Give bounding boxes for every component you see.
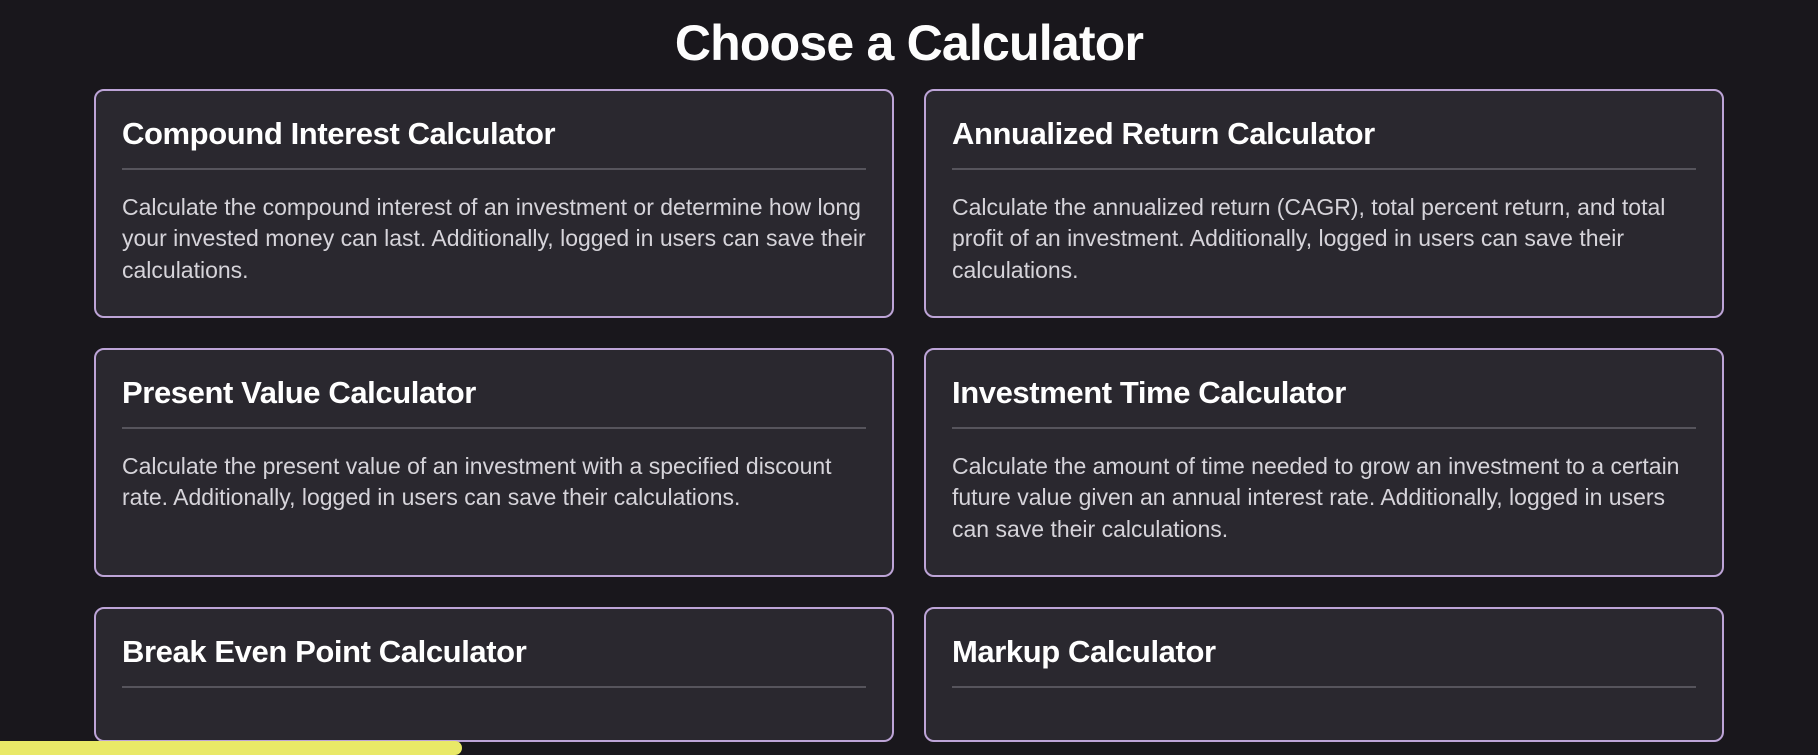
calculator-card-markup[interactable]: Markup Calculator — [924, 607, 1724, 742]
calculator-card-title: Investment Time Calculator — [952, 376, 1696, 427]
calculator-card-title: Break Even Point Calculator — [122, 635, 866, 686]
calculator-card-divider — [122, 168, 866, 170]
calculator-card-title: Present Value Calculator — [122, 376, 866, 427]
calculator-card-annualized-return[interactable]: Annualized Return Calculator Calculate t… — [924, 89, 1724, 318]
calculator-card-title: Annualized Return Calculator — [952, 117, 1696, 168]
calculator-card-description: Calculate the amount of time needed to g… — [952, 451, 1696, 546]
calculator-card-divider — [122, 686, 866, 688]
calculator-card-grid: Compound Interest Calculator Calculate t… — [94, 74, 1724, 742]
calculator-card-description: Calculate the present value of an invest… — [122, 451, 866, 514]
page-title: Choose a Calculator — [0, 0, 1818, 74]
calculator-card-divider — [952, 168, 1696, 170]
bottom-progress-bar[interactable] — [0, 741, 462, 755]
calculator-card-divider — [122, 427, 866, 429]
calculator-card-break-even-point[interactable]: Break Even Point Calculator — [94, 607, 894, 742]
calculator-card-divider — [952, 427, 1696, 429]
calculator-card-title: Compound Interest Calculator — [122, 117, 866, 168]
calculator-card-title: Markup Calculator — [952, 635, 1696, 686]
calculator-card-description: Calculate the compound interest of an in… — [122, 192, 866, 287]
calculator-card-investment-time[interactable]: Investment Time Calculator Calculate the… — [924, 348, 1724, 577]
calculator-card-divider — [952, 686, 1696, 688]
calculator-card-compound-interest[interactable]: Compound Interest Calculator Calculate t… — [94, 89, 894, 318]
calculator-card-present-value[interactable]: Present Value Calculator Calculate the p… — [94, 348, 894, 577]
calculator-card-description: Calculate the annualized return (CAGR), … — [952, 192, 1696, 287]
